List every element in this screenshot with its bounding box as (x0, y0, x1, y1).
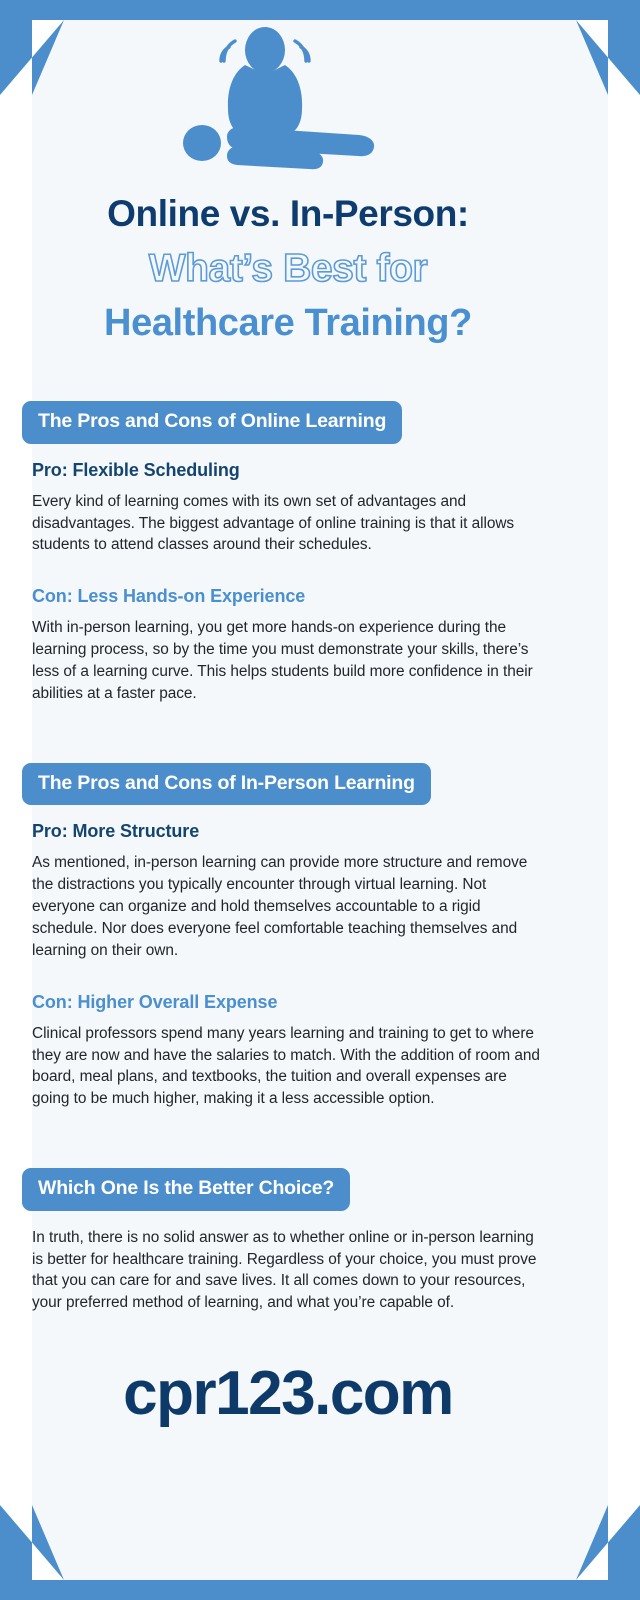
section-body-3: In truth, there is no solid answer as to… (0, 1227, 576, 1315)
hero-illustration (0, 0, 576, 185)
subsection-con: Con: Less Hands-on Experience With in-pe… (32, 586, 544, 705)
section-header-2: The Pros and Cons of In-Person Learning (0, 763, 576, 806)
right-rail (608, 95, 640, 1505)
page-title: Online vs. In-Person: What’s Best for He… (0, 193, 576, 345)
spacer (0, 705, 576, 763)
section-body-1: Pro: Flexible Scheduling Every kind of l… (0, 460, 576, 705)
infographic-page: Online vs. In-Person: What’s Best for He… (0, 0, 640, 1600)
spacer (32, 556, 544, 586)
section-body-2: Pro: More Structure As mentioned, in-per… (0, 821, 576, 1110)
subsection-paragraph: As mentioned, in-person learning can pro… (32, 852, 544, 961)
subsection-con: Con: Higher Overall Expense Clinical pro… (32, 992, 544, 1111)
section-header-3: Which One Is the Better Choice? (0, 1168, 576, 1211)
subsection-heading: Con: Less Hands-on Experience (32, 586, 544, 607)
title-line-2: What’s Best for (24, 246, 552, 291)
section-header-1: The Pros and Cons of Online Learning (0, 401, 576, 444)
spacer (0, 1110, 576, 1168)
subsection-heading: Con: Higher Overall Expense (32, 992, 544, 1013)
subsection-paragraph: Every kind of learning comes with its ow… (32, 491, 544, 557)
subsection-heading: Pro: Flexible Scheduling (32, 460, 544, 481)
subsection-pro: Pro: Flexible Scheduling Every kind of l… (32, 460, 544, 557)
title-line-1: Online vs. In-Person: (24, 193, 552, 236)
section-pill-label: The Pros and Cons of Online Learning (22, 401, 402, 444)
section-pill-label: The Pros and Cons of In-Person Learning (22, 763, 431, 806)
site-logo[interactable]: cpr123.com (0, 1358, 576, 1429)
content-container: Online vs. In-Person: What’s Best for He… (0, 0, 576, 1429)
spacer (0, 355, 576, 401)
subsection-pro: Pro: More Structure As mentioned, in-per… (32, 821, 544, 961)
subsection-paragraph: With in-person learning, you get more ha… (32, 617, 544, 705)
subsection-paragraph: In truth, there is no solid answer as to… (32, 1227, 544, 1315)
subsection-heading: Pro: More Structure (32, 821, 544, 842)
title-line-3: Healthcare Training? (24, 301, 552, 345)
spacer (32, 962, 544, 992)
cpr-chest-compression-icon (183, 23, 393, 173)
section-pill-label: Which One Is the Better Choice? (22, 1168, 350, 1211)
subsection-paragraph: Clinical professors spend many years lea… (32, 1023, 544, 1111)
